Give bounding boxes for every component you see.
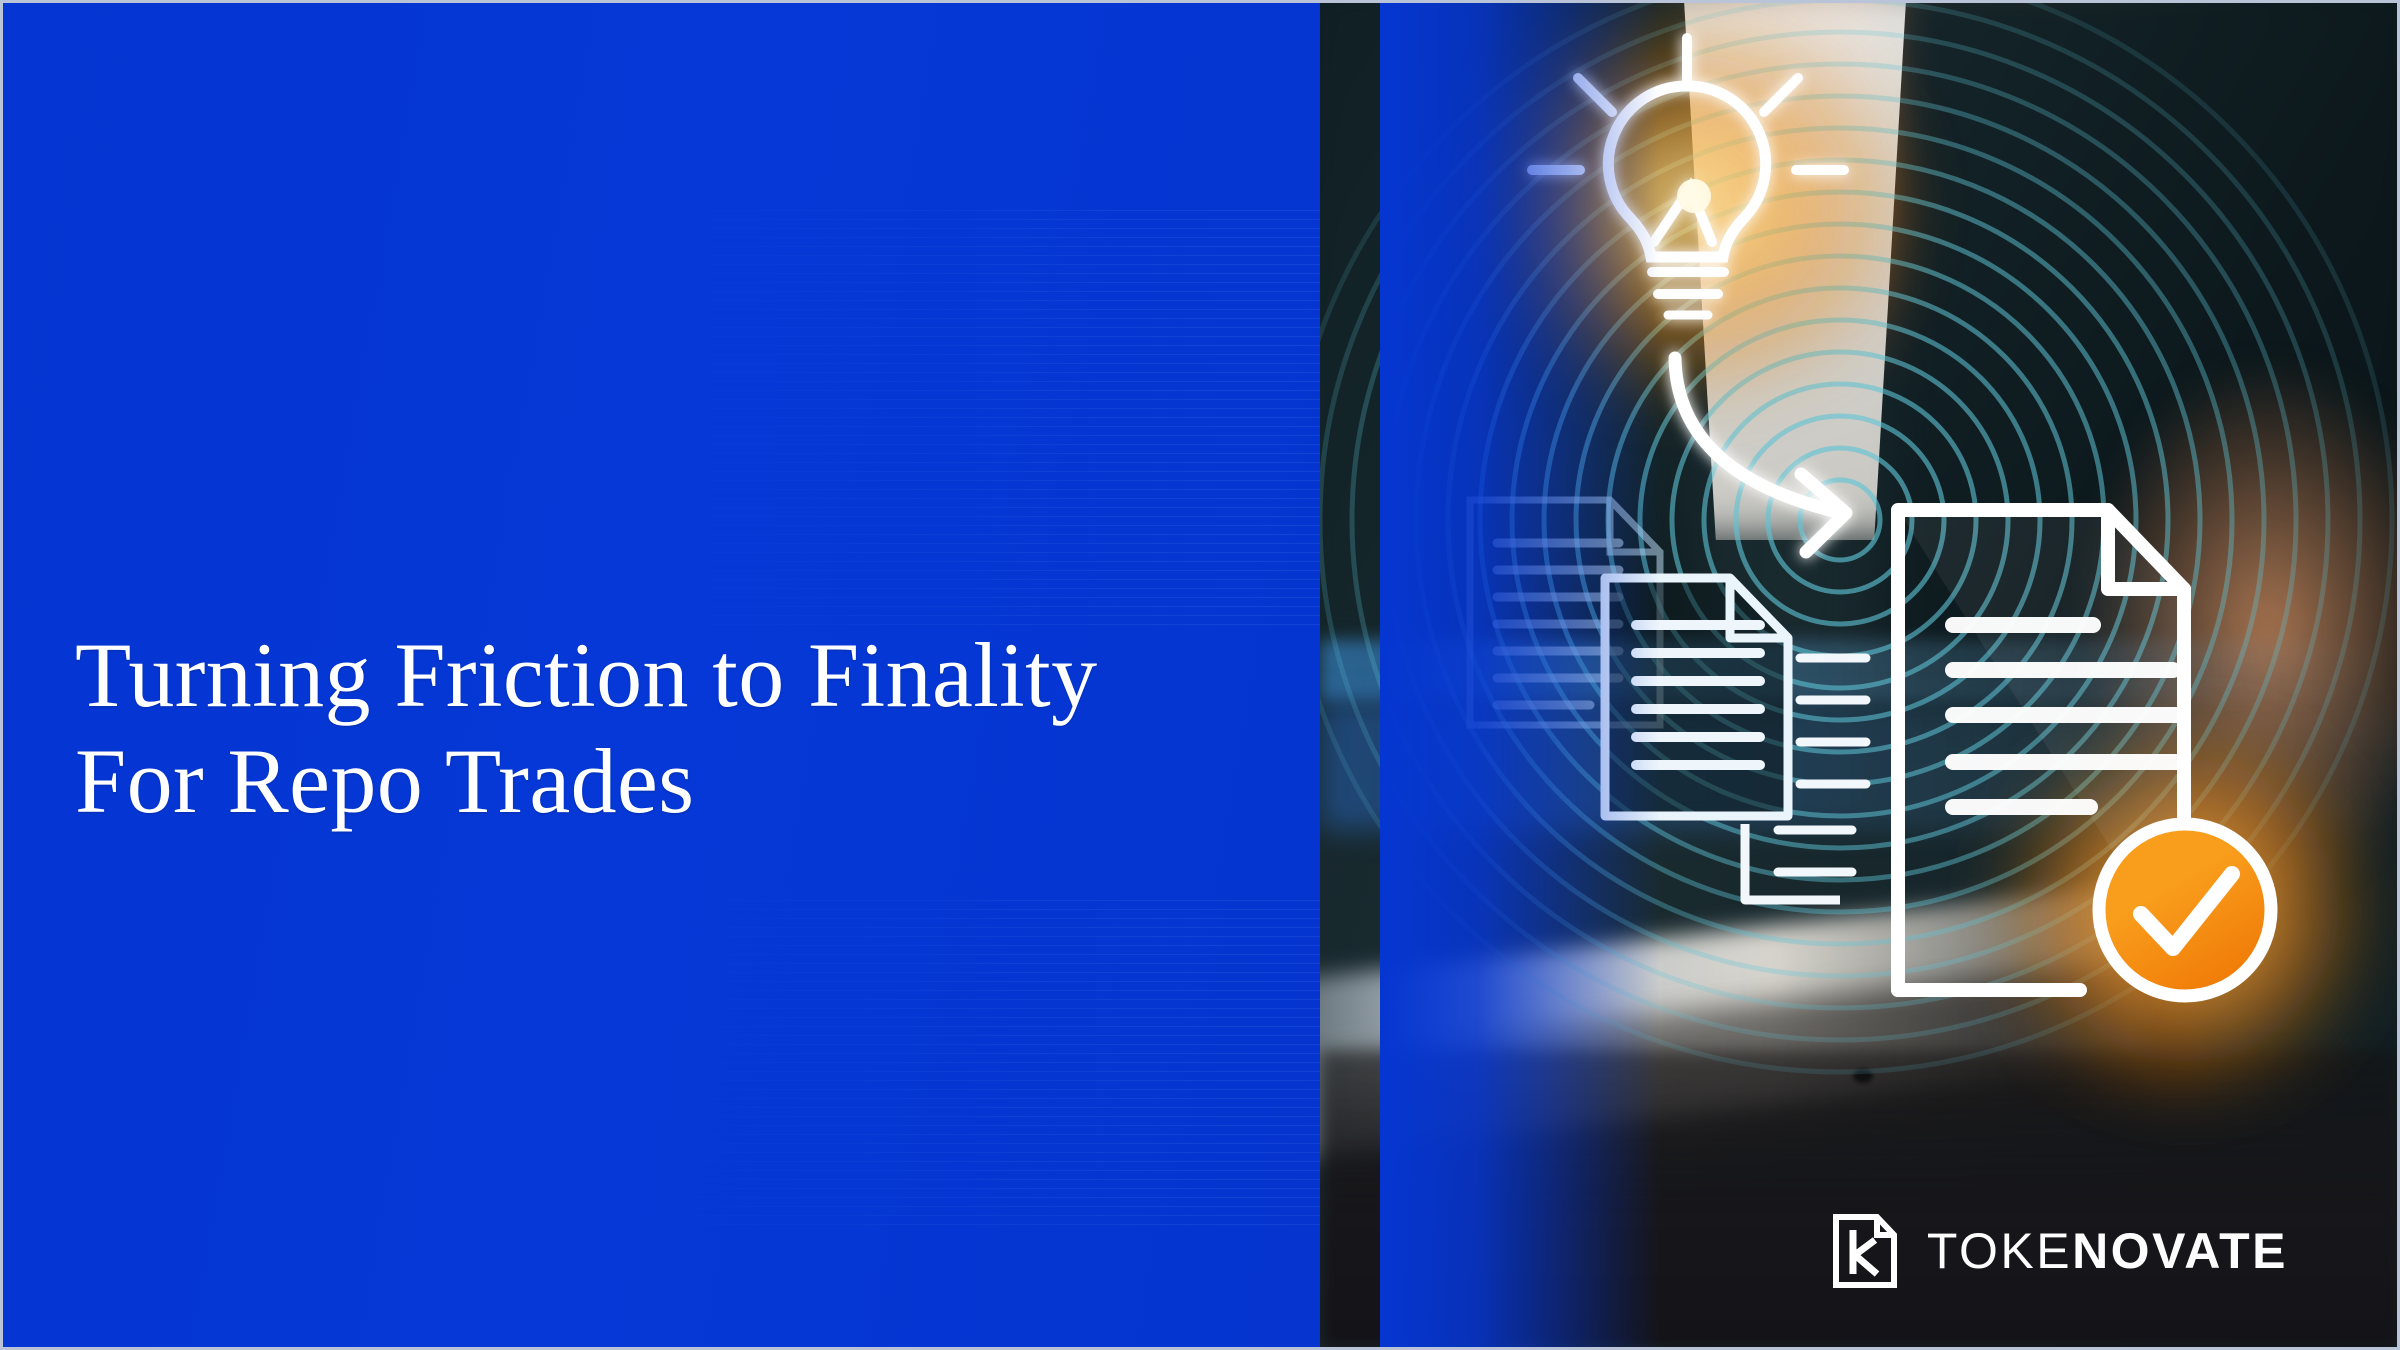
jacket-left: [1320, 0, 1700, 660]
title-line-2: For Repo Trades: [75, 728, 1255, 835]
title-line-1: Turning Friction to Finality: [75, 622, 1255, 729]
hand-shadow: [2020, 330, 2400, 930]
presentation-slide: Turning Friction to Finality For Repo Tr…: [0, 0, 2400, 1350]
dark-foreground: [1320, 1050, 2400, 1350]
tokenovate-wordmark: TOKENOVATE: [1927, 1226, 2288, 1276]
slide-title: Turning Friction to Finality For Repo Tr…: [75, 622, 1255, 835]
wordmark-novate: NOVATE: [2072, 1223, 2288, 1279]
blue-light-band-upper: [1320, 640, 2400, 700]
blue-light-band-lower: [1320, 700, 2400, 830]
tokenovate-document-k-mark: [1833, 1214, 1897, 1288]
tokenovate-logo[interactable]: TOKENOVATE: [1833, 1214, 2288, 1288]
wordmark-toke: TOKE: [1927, 1223, 2072, 1279]
hero-photo: [1320, 0, 2400, 1350]
